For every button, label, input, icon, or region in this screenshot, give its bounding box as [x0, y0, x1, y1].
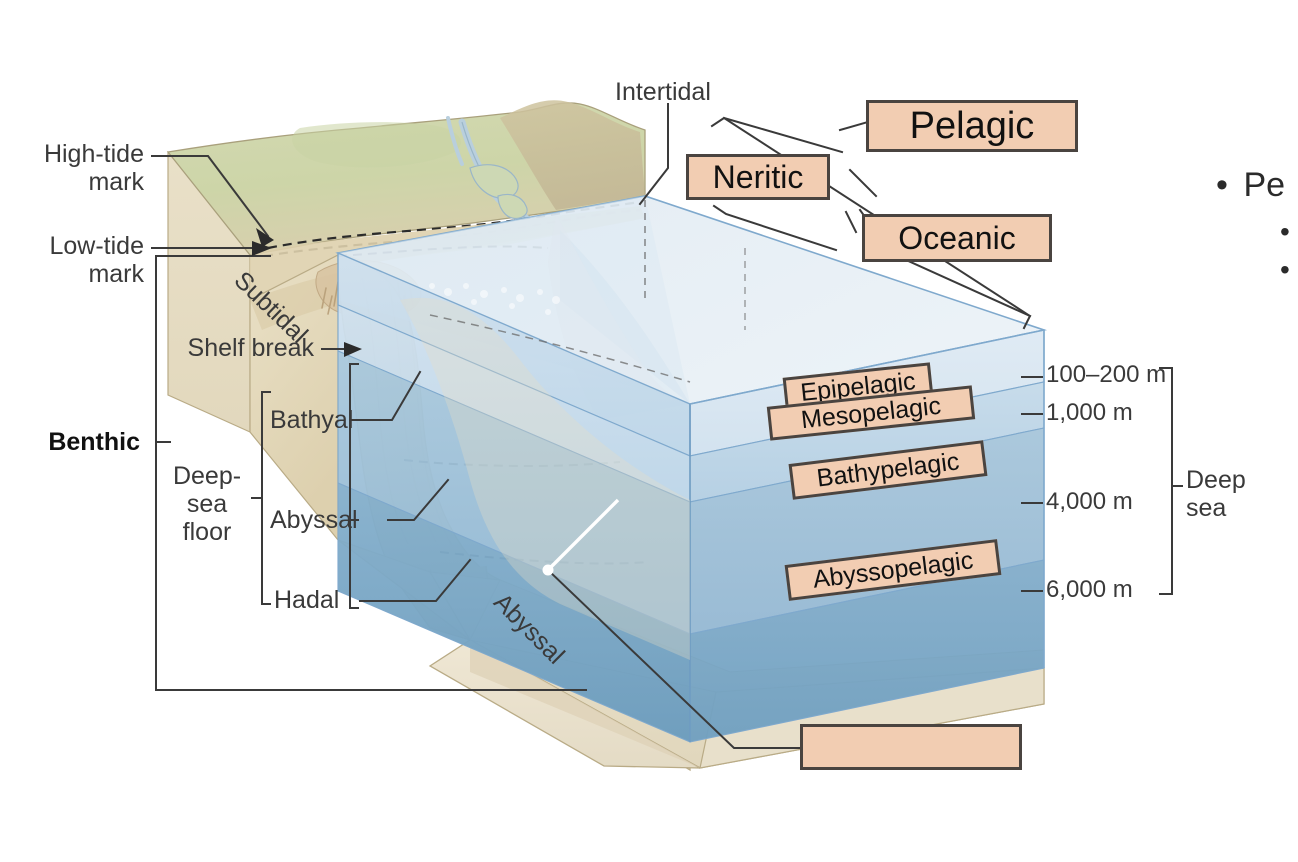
callout-neritic[interactable]: Neritic: [686, 154, 830, 200]
callout-redacted[interactable]: [800, 724, 1022, 770]
bullet-text: Pe: [1243, 166, 1285, 204]
bullet-level1-1: • Pe: [1216, 166, 1285, 205]
depth-tick-6000: 6,000 m: [1046, 577, 1133, 604]
callout-pelagic[interactable]: Pelagic: [866, 100, 1078, 152]
depth-tick-100-200: 100–200 m: [1046, 362, 1166, 389]
depth-tick-4000: 4,000 m: [1046, 489, 1133, 516]
bullet-dot-icon: •: [1280, 254, 1298, 286]
label-low-tide-mark: Low-tide mark: [8, 232, 144, 288]
bullet-level2-1: •: [1280, 216, 1298, 248]
label-bathyal: Bathyal: [270, 406, 353, 434]
diagram-canvas: High-tide mark Low-tide mark Shelf break…: [0, 0, 1298, 862]
label-benthic: Benthic: [14, 428, 140, 456]
label-hadal: Hadal: [274, 586, 339, 614]
label-high-tide-mark: High-tide mark: [8, 140, 144, 196]
bullet-dot-icon: •: [1280, 216, 1298, 248]
bullet-level2-2: •: [1280, 254, 1298, 286]
label-deep-sea-floor: Deep- sea floor: [166, 462, 248, 546]
depth-tick-1000: 1,000 m: [1046, 400, 1133, 427]
block-diagram-art: [0, 0, 1298, 862]
label-deep-sea: Deep sea: [1186, 466, 1246, 522]
slide-bullet-list: • Pe • •: [1206, 158, 1298, 298]
label-abyssal: Abyssal: [270, 506, 358, 534]
callout-oceanic[interactable]: Oceanic: [862, 214, 1052, 262]
label-intertidal: Intertidal: [615, 78, 711, 106]
bullet-dot-icon: •: [1216, 166, 1234, 205]
